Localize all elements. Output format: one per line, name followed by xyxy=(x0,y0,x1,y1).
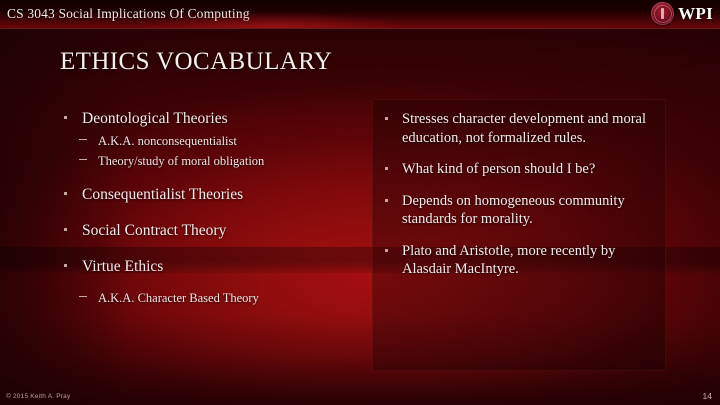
bullet-item-virtue-ethics: Virtue Ethics xyxy=(60,256,360,277)
bullet-label: Deontological Theories xyxy=(82,110,228,127)
bullet-marker-icon xyxy=(385,117,388,120)
wpi-logo: WPI xyxy=(651,2,713,25)
detail-bullet-label: Stresses character development and moral… xyxy=(402,111,646,146)
sub-bullet-label: A.K.A. nonconsequentialist xyxy=(98,134,237,148)
dash-marker-icon xyxy=(79,296,87,297)
right-content-box: Stresses character development and moral… xyxy=(372,99,666,371)
detail-bullet-item: What kind of person should I be? xyxy=(382,160,652,179)
detail-bullet-label: Plato and Aristotle, more recently by Al… xyxy=(402,243,615,278)
bullet-marker-icon xyxy=(64,228,67,231)
presentation-slide: CS 3043 Social Implications Of Computing… xyxy=(0,0,720,405)
wpi-logo-text: WPI xyxy=(678,4,713,24)
bullet-label: Social Contract Theory xyxy=(82,222,226,239)
detail-bullet-item: Stresses character development and moral… xyxy=(382,110,652,147)
list-spacer xyxy=(60,280,360,289)
sub-bullet-item: Theory/study of moral obligation xyxy=(60,152,360,171)
bullet-marker-icon xyxy=(64,116,67,119)
sub-bullet-item: A.K.A. Character Based Theory xyxy=(60,289,360,308)
bullet-marker-icon xyxy=(385,167,388,170)
sub-bullet-label: A.K.A. Character Based Theory xyxy=(98,291,259,305)
detail-bullet-label: What kind of person should I be? xyxy=(402,161,595,177)
dash-marker-icon xyxy=(79,159,87,160)
bullet-marker-icon xyxy=(385,199,388,202)
sub-bullet-label: Theory/study of moral obligation xyxy=(98,154,264,168)
list-spacer xyxy=(60,244,360,256)
bullet-label: Virtue Ethics xyxy=(82,258,163,275)
detail-bullet-label: Depends on homogeneous community standar… xyxy=(402,193,625,228)
list-spacer xyxy=(60,208,360,220)
bullet-item: Deontological Theories xyxy=(60,108,360,129)
sub-bullet-item: A.K.A. nonconsequentialist xyxy=(60,132,360,151)
slide-title: ETHICS VOCABULARY xyxy=(60,48,332,76)
detail-bullet-item: Depends on homogeneous community standar… xyxy=(382,192,652,229)
bullet-label: Consequentialist Theories xyxy=(82,186,243,203)
left-bullet-list: Deontological Theories A.K.A. nonconsequ… xyxy=(60,108,360,309)
bullet-marker-icon xyxy=(385,249,388,252)
bullet-item: Social Contract Theory xyxy=(60,220,360,241)
wpi-seal-icon xyxy=(651,2,674,25)
bullet-marker-icon xyxy=(64,264,67,267)
slide-header-bar: CS 3043 Social Implications Of Computing xyxy=(0,0,720,28)
list-spacer xyxy=(60,172,360,184)
bullet-marker-icon xyxy=(64,192,67,195)
course-title: CS 3043 Social Implications Of Computing xyxy=(7,6,250,22)
detail-bullet-item: Plato and Aristotle, more recently by Al… xyxy=(382,242,652,279)
bullet-item: Consequentialist Theories xyxy=(60,184,360,205)
copyright-notice: © 2015 Keith A. Pray xyxy=(6,393,70,400)
slide-page-number: 14 xyxy=(703,391,712,401)
dash-marker-icon xyxy=(79,139,87,140)
